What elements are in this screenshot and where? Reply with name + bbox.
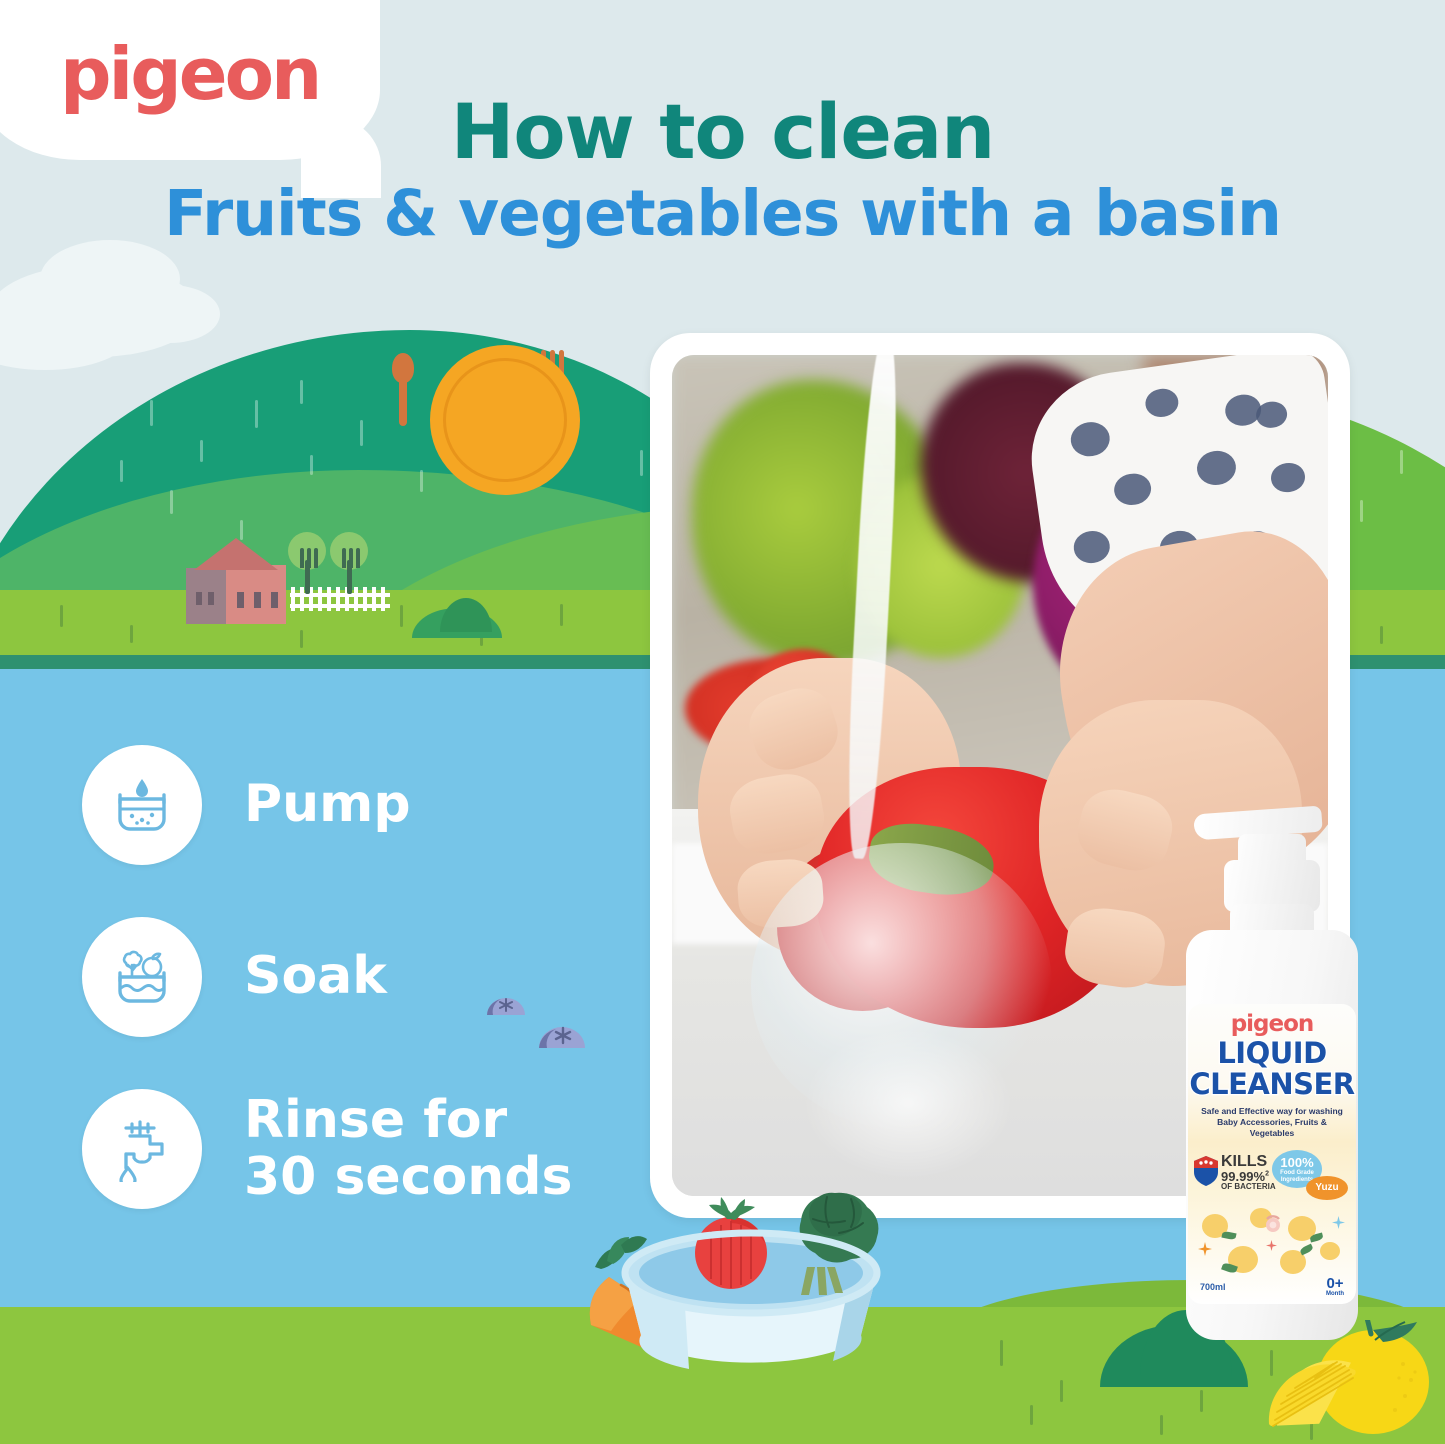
sun-plate-ring	[443, 358, 567, 482]
fence-icon	[291, 587, 295, 611]
age-value: 0+	[1326, 1276, 1344, 1291]
tree-trunk	[347, 560, 352, 594]
fence-icon	[327, 587, 331, 611]
product-label: pigeon LIQUID CLEANSER Safe and Effectiv…	[1188, 1004, 1356, 1304]
step-icon-circle	[82, 1089, 202, 1209]
badge-scent: Yuzu	[1306, 1176, 1348, 1200]
tree-fork-icon	[314, 548, 318, 568]
sparkle-icon	[1332, 1216, 1345, 1229]
fence-icon	[300, 587, 304, 611]
barn-icon	[186, 568, 226, 624]
barn-window	[254, 592, 261, 608]
barn-window	[196, 592, 202, 605]
kills-subject: OF BACTERIA	[1221, 1183, 1276, 1191]
sparkle-icon	[1266, 1240, 1277, 1251]
fence-icon	[372, 587, 376, 611]
faucet-droplet-icon	[108, 1116, 176, 1182]
brand-logo-text: pigeon	[60, 38, 319, 110]
poster: pigeon How to clean Fruits & vegetables …	[0, 0, 1445, 1444]
fence-icon	[363, 587, 367, 611]
step-item-pump: Pump	[82, 745, 572, 865]
label-badges: KILLS 99.99%2 OF BACTERIA 100% Food Grad…	[1188, 1144, 1356, 1206]
tree-fork-icon	[342, 548, 346, 568]
step-item-soak: Soak	[82, 917, 572, 1037]
steps-list: Pump Soak	[82, 745, 572, 1261]
label-product-name-line2: CLEANSER	[1188, 1071, 1356, 1099]
age-unit: Month	[1326, 1291, 1344, 1297]
water-splash	[803, 1028, 1013, 1179]
kills-claim: KILLS 99.99%2 OF BACTERIA	[1221, 1154, 1276, 1191]
brand-logo[interactable]: pigeon	[60, 38, 319, 110]
fence-icon	[318, 587, 322, 611]
kills-value: 99.99%2	[1221, 1170, 1276, 1183]
fence-icon	[354, 587, 358, 611]
fence-icon	[381, 587, 385, 611]
tree-fork-icon	[356, 548, 360, 568]
step-label: Soak	[244, 948, 387, 1005]
barn-roof-icon	[194, 538, 278, 570]
step-label: Pump	[244, 776, 411, 833]
shield-icon	[1194, 1156, 1218, 1186]
label-product-name-line1: LIQUID	[1188, 1040, 1356, 1068]
basin-droplet-icon	[108, 773, 176, 837]
step-icon-circle	[82, 745, 202, 865]
sparkle-icon	[1198, 1242, 1212, 1256]
pacifier-icon	[1260, 1212, 1286, 1234]
page-subtitle: Fruits & vegetables with a basin	[0, 179, 1445, 250]
barn-window	[271, 592, 278, 608]
tree-fork-icon	[300, 548, 304, 568]
heart-icon	[24, 34, 50, 58]
cloud-icon	[120, 285, 220, 343]
product-bottle: pigeon LIQUID CLEANSER Safe and Effectiv…	[1178, 800, 1368, 1340]
kills-label: KILLS	[1221, 1154, 1276, 1170]
barn-window	[237, 592, 244, 608]
step-icon-circle	[82, 917, 202, 1037]
age-badge: 0+ Month	[1326, 1276, 1344, 1297]
label-tagline: Safe and Effective way for washing Baby …	[1188, 1106, 1356, 1139]
step-label: Rinse for 30 seconds	[244, 1092, 572, 1206]
tomato-icon	[695, 1197, 767, 1289]
fence-icon	[336, 587, 340, 611]
label-fruit-pattern	[1188, 1206, 1356, 1280]
badge-percent: 100%	[1272, 1155, 1322, 1170]
basin-produce-icon	[108, 945, 176, 1009]
step-item-rinse: Rinse for 30 seconds	[82, 1089, 572, 1209]
spoon-handle	[399, 378, 407, 426]
barn-window	[208, 592, 214, 605]
label-brand: pigeon	[1188, 1011, 1356, 1037]
tree-trunk	[305, 560, 310, 594]
label-footer: 700ml 0+ Month	[1188, 1280, 1356, 1302]
volume-text: 700ml	[1200, 1282, 1226, 1292]
basin-with-vegetables	[555, 1175, 915, 1390]
